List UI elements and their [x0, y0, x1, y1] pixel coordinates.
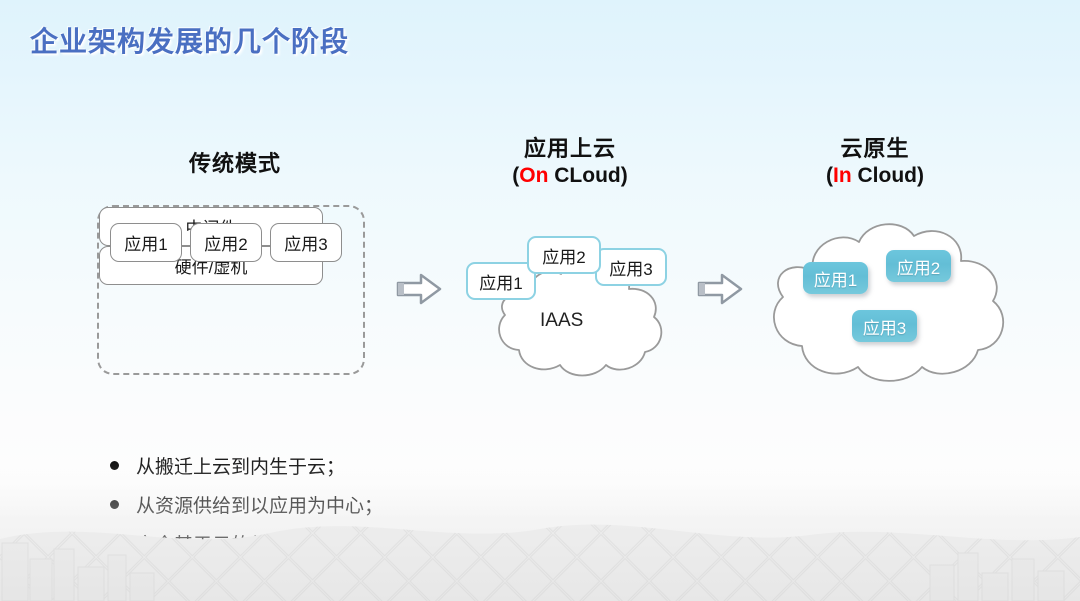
section-heading-in-cloud-en: (In Cloud)	[735, 163, 1015, 189]
on-cloud-app-box-3[interactable]: 应用3	[595, 248, 667, 286]
in-cloud-app-box-3[interactable]: 应用3	[852, 310, 917, 342]
in-cloud-highlight-word: In	[833, 164, 852, 187]
right-arrow-icon-1	[396, 272, 442, 306]
on-cloud-rest-word: CLoud)	[548, 164, 627, 187]
bullet-text-1: 从搬迁上云到内生于云；	[136, 452, 345, 479]
in-cloud-app-box-2[interactable]: 应用2	[886, 250, 951, 282]
page-title: 企业架构发展的几个阶段	[30, 20, 349, 60]
in-cloud-paren-open: (	[826, 164, 833, 187]
traditional-stack-container: 应用1 应用2 应用3 中间件 硬件/虚机	[97, 205, 365, 375]
section-heading-on-cloud-en: (On CLoud)	[430, 163, 710, 189]
on-cloud-app-box-1[interactable]: 应用1	[466, 262, 536, 300]
bullet-text-3: 完全基于云的体现进行建设，充分发挥云的优势。	[136, 530, 554, 557]
bullet-dot-icon	[110, 500, 119, 509]
traditional-apps-row: 应用1 应用2 应用3	[110, 223, 342, 262]
section-heading-on-cloud-cn: 应用上云	[430, 135, 710, 163]
bullet-list: 从搬迁上云到内生于云； 从资源供给到以应用为中心； 完全基于云的体现进行建设，充…	[110, 452, 810, 569]
in-cloud-app-box-1[interactable]: 应用1	[803, 262, 868, 294]
bullet-item-1: 从搬迁上云到内生于云；	[110, 452, 810, 479]
bullet-item-2: 从资源供给到以应用为中心；	[110, 491, 810, 518]
section-heading-in-cloud: 云原生 (In Cloud)	[735, 135, 1015, 189]
traditional-app-box-3[interactable]: 应用3	[270, 223, 342, 262]
on-cloud-app-box-2[interactable]: 应用2	[527, 236, 601, 274]
right-arrow-icon-2	[697, 272, 743, 306]
on-cloud-highlight-word: On	[519, 164, 548, 187]
slide-canvas: 企业架构发展的几个阶段 传统模式 应用1 应用2 应用3 中间件 硬件/虚机 应…	[0, 0, 1080, 601]
section-heading-on-cloud: 应用上云 (On CLoud)	[430, 135, 710, 189]
traditional-app-box-1[interactable]: 应用1	[110, 223, 182, 262]
section-heading-traditional-cn: 传统模式	[90, 150, 380, 178]
section-heading-traditional: 传统模式	[90, 150, 380, 178]
native-cloud-shape	[755, 215, 1020, 385]
bullet-dot-icon	[110, 539, 119, 548]
traditional-app-box-2[interactable]: 应用2	[190, 223, 262, 262]
bullet-dot-icon	[110, 461, 119, 470]
iaas-cloud-label: IAAS	[540, 310, 583, 332]
bullet-text-2: 从资源供给到以应用为中心；	[136, 491, 383, 518]
bullet-item-3: 完全基于云的体现进行建设，充分发挥云的优势。	[110, 530, 810, 557]
in-cloud-rest-word: Cloud)	[852, 164, 924, 187]
section-heading-in-cloud-cn: 云原生	[735, 135, 1015, 163]
